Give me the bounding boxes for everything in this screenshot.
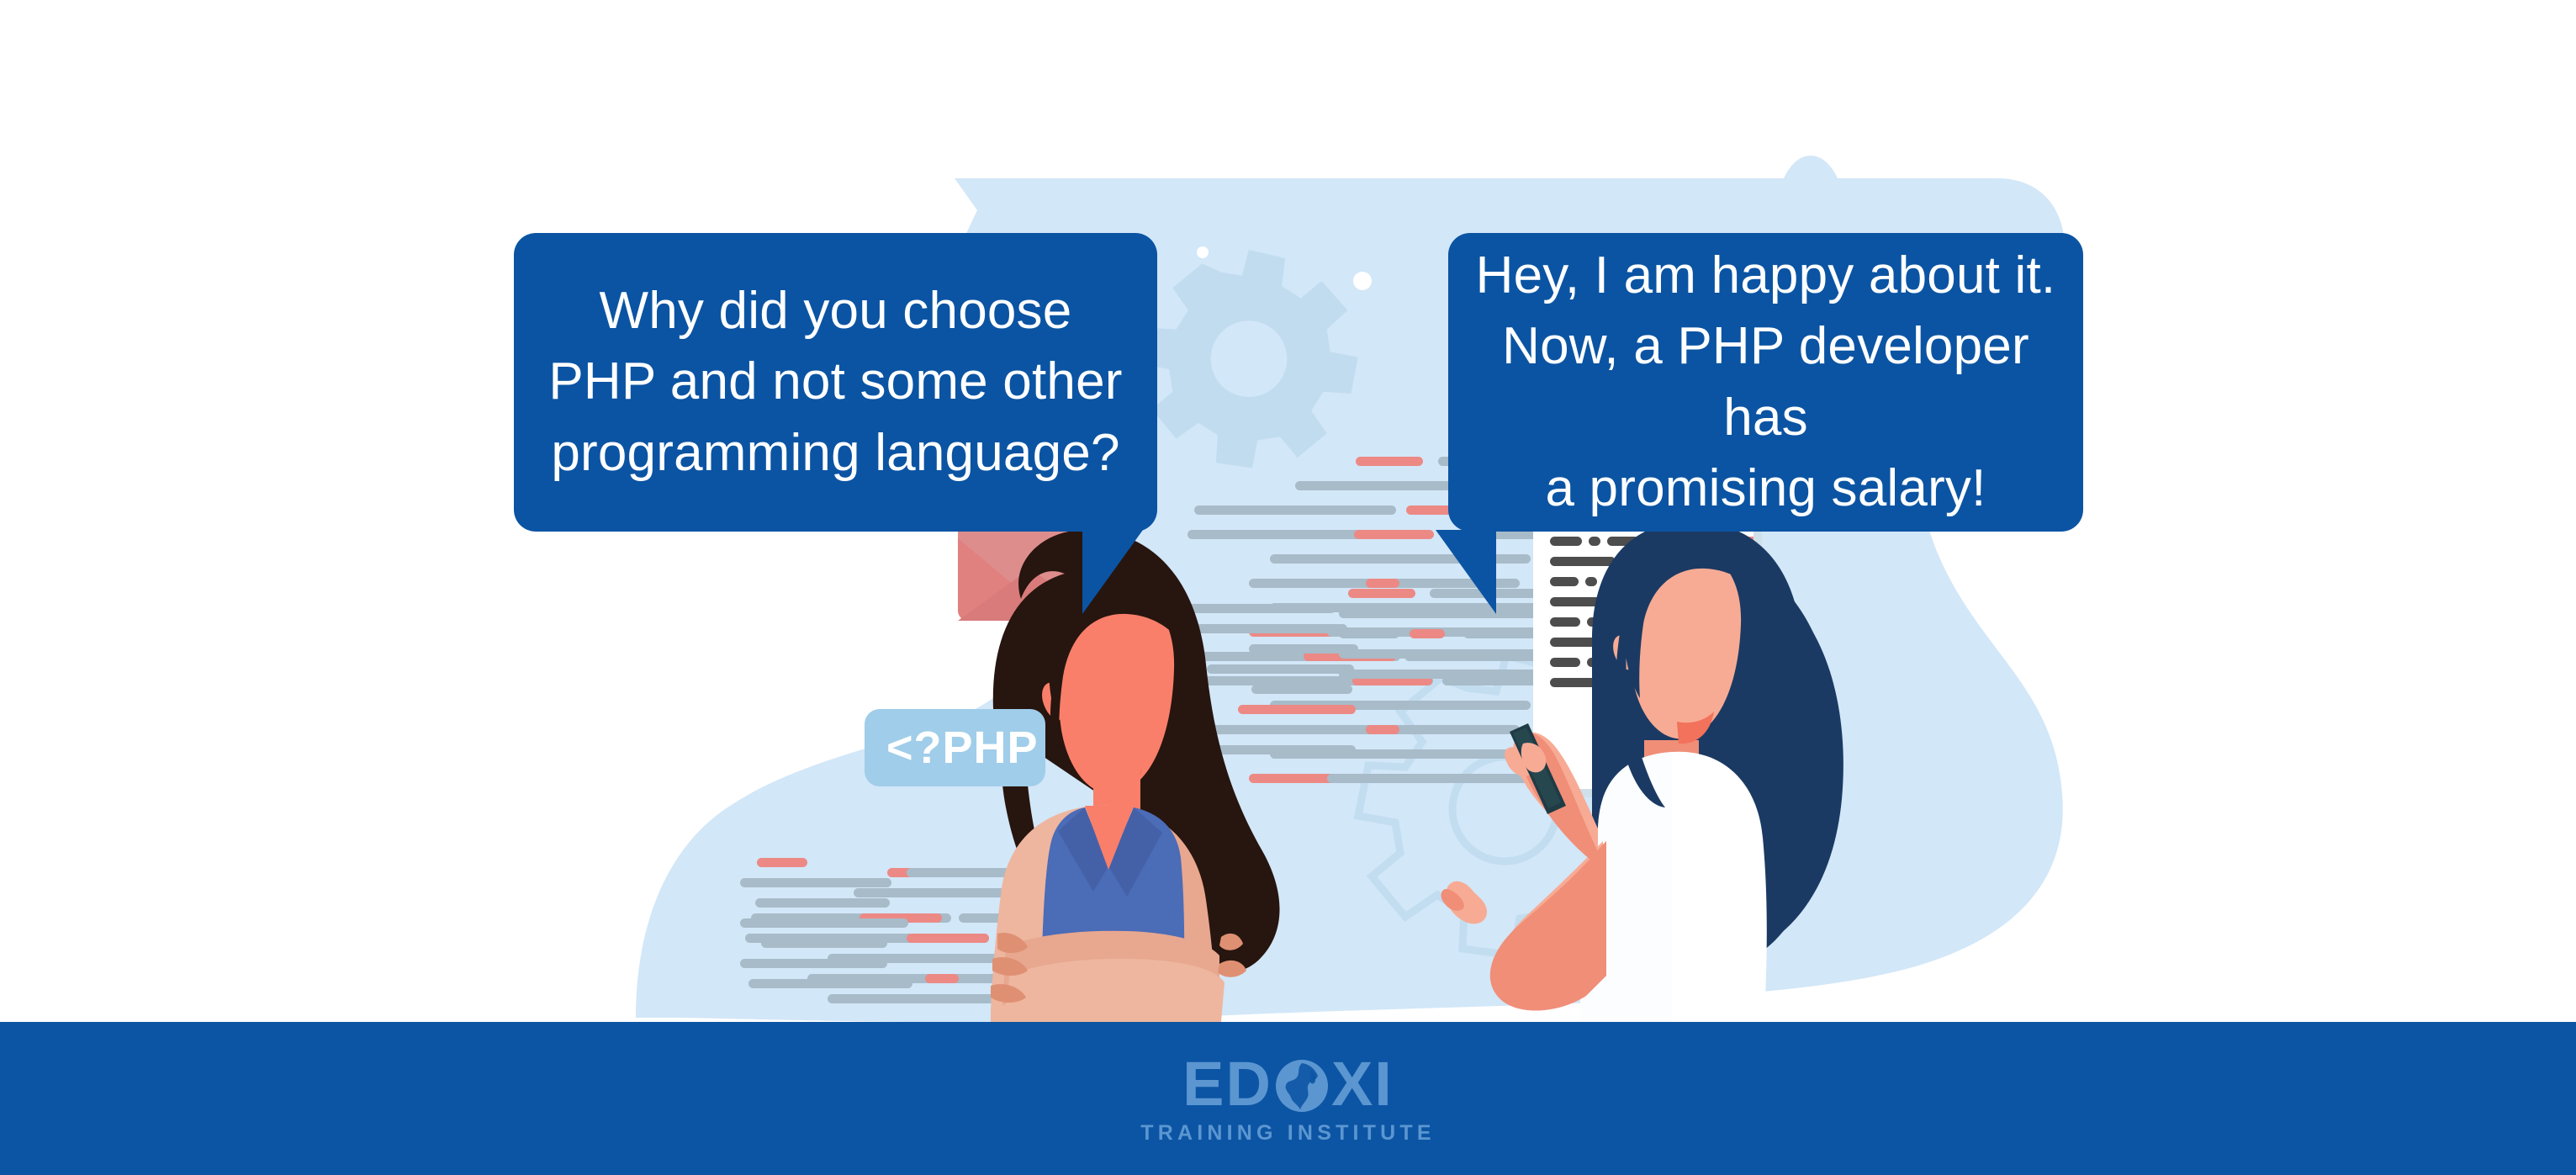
dot-decor-1 — [1197, 246, 1209, 258]
logo-word-before: ED — [1182, 1053, 1272, 1115]
speech-bubble-left: Why did you choose PHP and not some othe… — [514, 233, 1157, 532]
speech-bubble-right: Hey, I am happy about it. Now, a PHP dev… — [1448, 233, 2083, 532]
illustration-banner: Why did you choose PHP and not some othe… — [0, 0, 2576, 1175]
dot-decor-2 — [1353, 272, 1372, 290]
speech-bubble-right-text: Hey, I am happy about it. Now, a PHP dev… — [1448, 241, 2083, 524]
footer-bar: ED XI TRAINING INSTITUTE — [0, 1022, 2576, 1175]
logo-tagline: TRAINING INSTITUTE — [1140, 1123, 1436, 1144]
dot-decor-3 — [863, 537, 888, 563]
php-tag-badge: <?PHP — [865, 709, 1045, 786]
globe-icon — [1274, 1058, 1330, 1114]
php-tag-label: <?PHP — [865, 722, 1039, 774]
background-illustration — [0, 0, 2576, 1175]
logo-wordmark: ED XI — [1182, 1053, 1394, 1115]
speech-bubble-right-tail — [1436, 530, 1496, 614]
logo-word-after: XI — [1331, 1053, 1394, 1115]
speech-bubble-left-tail — [1082, 530, 1143, 614]
speech-bubble-left-text: Why did you choose PHP and not some othe… — [526, 276, 1144, 489]
edoxi-logo[interactable]: ED XI TRAINING INSTITUTE — [1140, 1053, 1436, 1144]
